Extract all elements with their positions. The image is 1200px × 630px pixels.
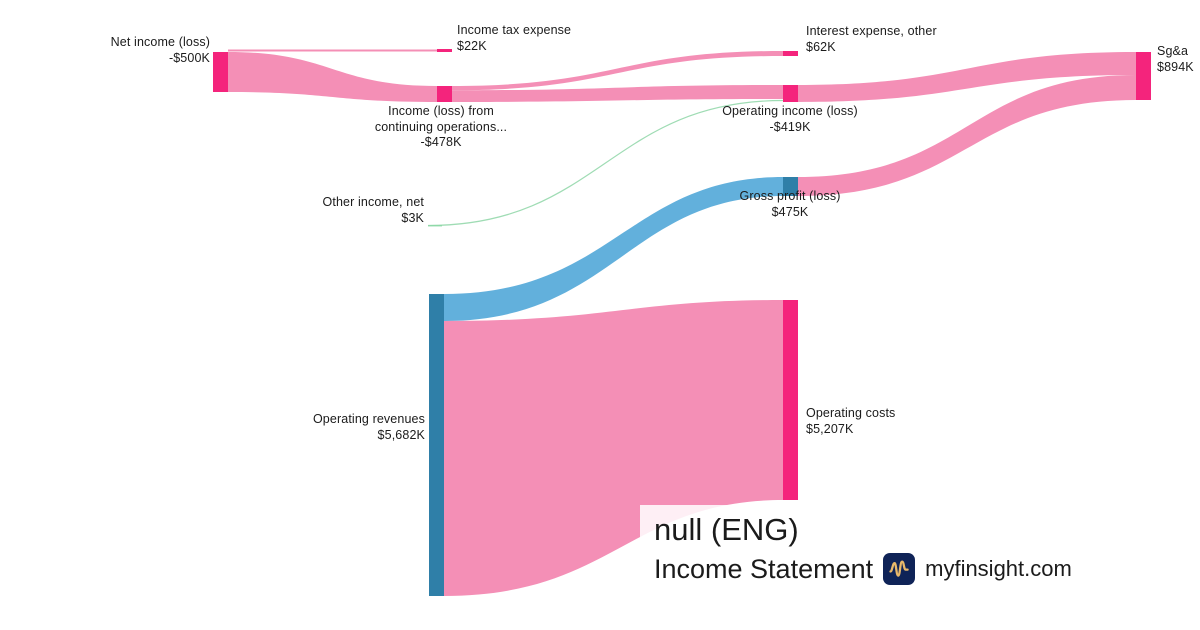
label-operating-costs: Operating costs $5,207K <box>806 406 986 437</box>
pulse-wave-icon <box>883 553 915 585</box>
label-income-continuing-ops-value: -$478K <box>351 135 531 151</box>
label-interest-expense-name: Interest expense, other <box>806 24 1026 40</box>
node-sga[interactable] <box>1136 52 1151 100</box>
sankey-chart: Net income (loss) -$500K Income tax expe… <box>0 0 1200 630</box>
label-sga-name: Sg&a <box>1157 44 1200 60</box>
watermark-row: Income Statement myfinsight.com <box>654 553 1100 585</box>
label-operating-income-value: -$419K <box>700 120 880 136</box>
label-operating-revenues: Operating revenues $5,682K <box>225 412 425 443</box>
label-operating-costs-value: $5,207K <box>806 422 986 438</box>
label-other-income: Other income, net $3K <box>244 195 424 226</box>
node-operating-costs[interactable] <box>783 300 798 500</box>
label-income-continuing-ops-name-line1: Income (loss) from <box>351 104 531 120</box>
label-operating-income-name: Operating income (loss) <box>700 104 880 120</box>
label-net-income-value: -$500K <box>50 51 210 67</box>
watermark-subtitle: Income Statement <box>654 553 873 585</box>
watermark-title: null (ENG) <box>654 511 1100 549</box>
label-gross-profit-name: Gross profit (loss) <box>700 189 880 205</box>
node-income-tax-expense[interactable] <box>437 49 452 52</box>
label-income-tax-expense-name: Income tax expense <box>457 23 637 39</box>
label-operating-revenues-name: Operating revenues <box>225 412 425 428</box>
label-sga-value: $894K <box>1157 60 1200 76</box>
label-operating-costs-name: Operating costs <box>806 406 986 422</box>
label-operating-income: Operating income (loss) -$419K <box>700 104 880 135</box>
label-income-tax-expense-value: $22K <box>457 39 637 55</box>
node-operating-revenues[interactable] <box>429 294 444 596</box>
node-operating-income[interactable] <box>783 85 798 102</box>
link-income-continuing-ops-to-interest-expense <box>452 51 783 90</box>
label-net-income-name: Net income (loss) <box>50 35 210 51</box>
node-income-continuing-ops[interactable] <box>437 86 452 102</box>
label-income-tax-expense: Income tax expense $22K <box>457 23 637 54</box>
label-net-income: Net income (loss) -$500K <box>50 35 210 66</box>
label-other-income-value: $3K <box>244 211 424 227</box>
watermark-panel: null (ENG) Income Statement myfinsight.c… <box>640 505 1110 610</box>
label-gross-profit-value: $475K <box>700 205 880 221</box>
label-interest-expense-value: $62K <box>806 40 1026 56</box>
node-net-income[interactable] <box>213 52 228 92</box>
node-other-income[interactable] <box>428 225 442 226</box>
watermark-domain: myfinsight.com <box>925 556 1072 582</box>
label-sga: Sg&a $894K <box>1157 44 1200 75</box>
label-gross-profit: Gross profit (loss) $475K <box>700 189 880 220</box>
label-income-continuing-ops: Income (loss) from continuing operations… <box>351 104 531 151</box>
label-other-income-name: Other income, net <box>244 195 424 211</box>
label-operating-revenues-value: $5,682K <box>225 428 425 444</box>
link-net-income-to-income-continuing-ops <box>228 52 437 102</box>
label-income-continuing-ops-name-line2: continuing operations... <box>351 120 531 136</box>
label-interest-expense: Interest expense, other $62K <box>806 24 1026 55</box>
node-interest-expense[interactable] <box>783 51 798 56</box>
